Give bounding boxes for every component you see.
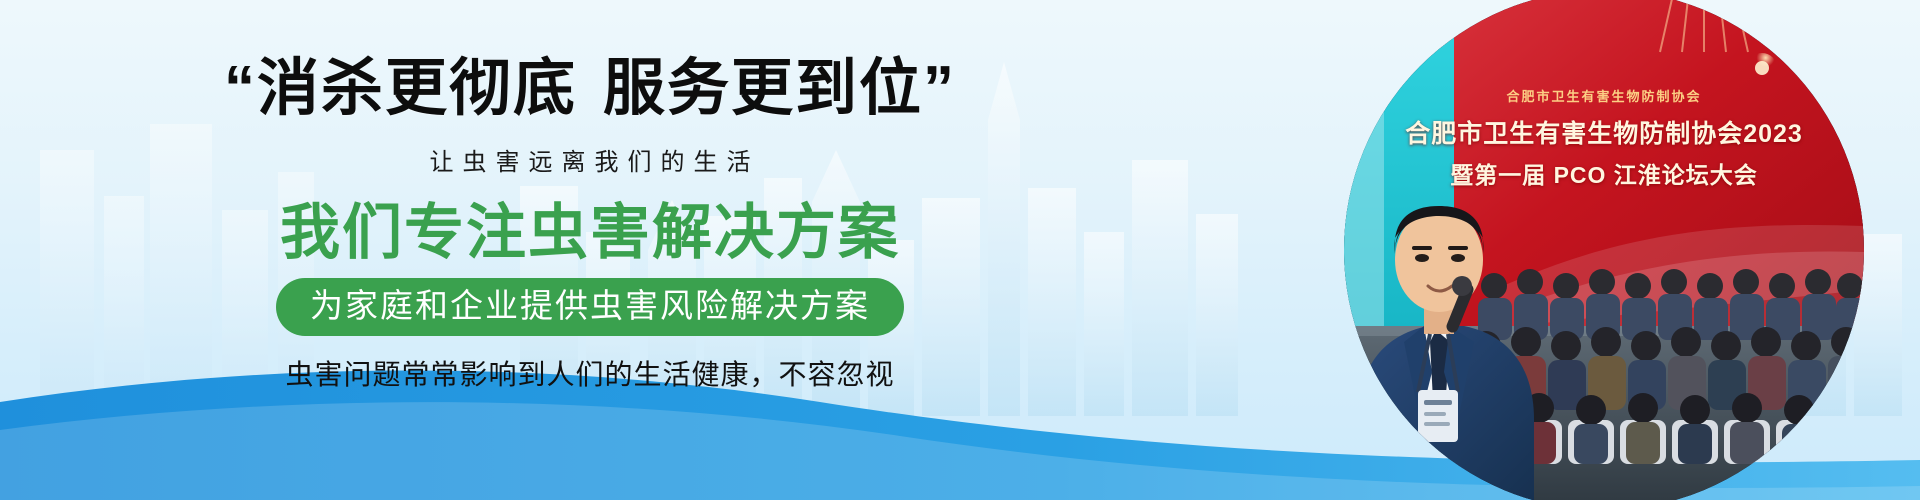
green-headline: 我们专注虫害解决方案: [280, 201, 900, 264]
promo-banner: “消杀更彻底服务更到位” 让虫害远离我们的生活 我们专注虫害解决方案 为家庭和企…: [0, 0, 1920, 500]
headline-part-1: “消杀更彻底: [224, 54, 577, 123]
conference-photo-image: [1344, 0, 1864, 500]
footer-caption: 虫害问题常常影响到人们的生活健康，不容忽视: [285, 353, 894, 393]
headline-part-2: 服务更到位”: [603, 54, 956, 123]
page-title: “消杀更彻底服务更到位”: [224, 58, 956, 120]
banner-text-block: “消杀更彻底服务更到位” 让虫害远离我们的生活 我们专注虫害解决方案 为家庭和企…: [0, 0, 1180, 500]
service-pill-badge: 为家庭和企业提供虫害风险解决方案: [276, 278, 904, 336]
subtitle: 让虫害远离我们的生活: [421, 142, 760, 177]
conference-photo: 合肥市卫生有害生物防制协会 合肥市卫生有害生物防制协会2023 暨第一届 PCO…: [1344, 0, 1864, 500]
